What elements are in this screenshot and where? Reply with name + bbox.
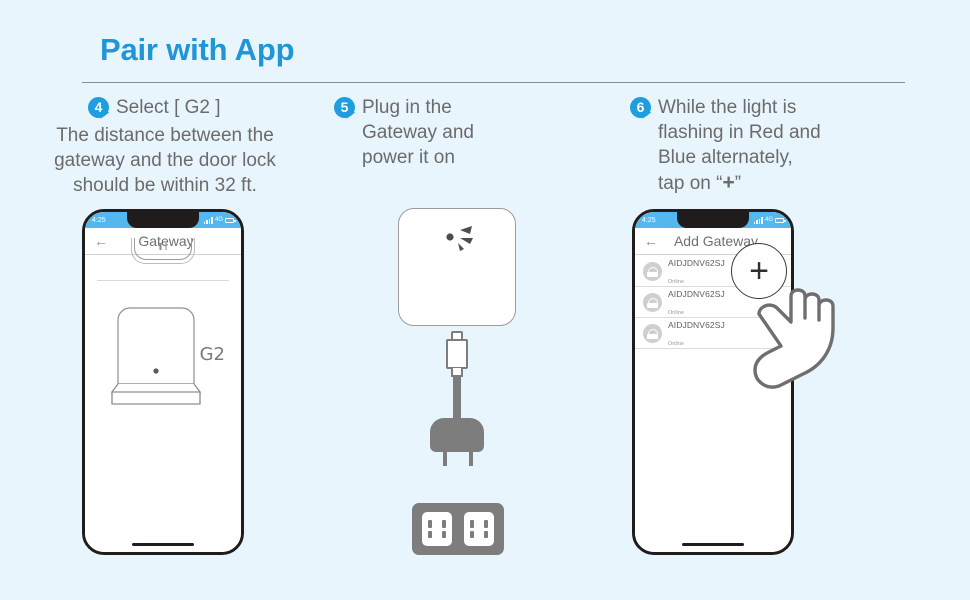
- list-item-name: AIDJDNV62SJ: [668, 320, 725, 330]
- phone-mockup-add-gateway: 4:25 4G ← Add Gateway: [632, 209, 794, 555]
- list-item-text: AIDJDNV62SJ Online: [668, 254, 725, 288]
- status-bar-1: 4:25 4G: [85, 212, 241, 228]
- home-indicator-3: [682, 543, 744, 546]
- g2-label: G2: [200, 344, 225, 365]
- badge-tail-icon: [643, 112, 652, 120]
- list-item-status: Online: [668, 310, 684, 316]
- g2-device-illustration[interactable]: G2: [85, 300, 241, 410]
- status-clock: 4:25: [92, 217, 106, 224]
- list-item-name: AIDJDNV62SJ: [668, 258, 725, 268]
- usb-c-connector-icon: [446, 339, 468, 369]
- badge-tail-icon: [101, 112, 110, 120]
- list-item-name: AIDJDNV62SJ: [668, 289, 725, 299]
- step-6-heading: 6 While the light is flashing in Red and…: [620, 95, 970, 196]
- step-6-badge: 6: [630, 95, 658, 121]
- phone-notch: [677, 209, 749, 228]
- back-arrow-icon[interactable]: ←: [644, 234, 658, 248]
- power-cable: [453, 376, 461, 422]
- gateway-icon: [643, 293, 662, 312]
- home-indicator-1: [132, 543, 194, 546]
- list-item-text: AIDJDNV62SJ Online: [668, 316, 725, 350]
- phone-screen-3: 4:25 4G ← Add Gateway: [635, 212, 791, 552]
- signal-bars-icon: [204, 217, 213, 224]
- outlet-socket-left: [422, 512, 452, 546]
- step-6-text-part2: ”: [735, 173, 741, 194]
- wall-outlet-icon: [412, 503, 504, 555]
- step-4-heading: 4 Select [ G2 ]: [0, 95, 330, 121]
- battery-icon: [775, 218, 784, 223]
- status-bar-3: 4:25 4G: [635, 212, 791, 228]
- step-4-badge: 4: [88, 95, 116, 121]
- signal-bars-icon: [754, 217, 763, 224]
- instruction-page: Pair with App 4 Select [ G2 ] The distan…: [0, 0, 970, 600]
- network-label: 4G: [765, 217, 773, 223]
- badge-tail-icon: [347, 112, 356, 120]
- step-4-lead: Select [ G2 ]: [116, 95, 221, 120]
- step-5-lead: Plug in the Gateway and power it on: [362, 95, 474, 170]
- list-item-text: AIDJDNV62SJ Online: [668, 285, 725, 319]
- page-title: Pair with App: [100, 32, 294, 68]
- phone-screen-1: 4:25 4G ← Gateway: [85, 212, 241, 552]
- plug-prong-right: [469, 450, 473, 466]
- gateway-icon: [643, 324, 662, 343]
- plug-prong-left: [443, 450, 447, 466]
- status-icons: 4G: [204, 217, 234, 224]
- phone-notch: [127, 209, 199, 228]
- back-arrow-icon[interactable]: ←: [94, 234, 108, 248]
- list-item-status: Online: [668, 341, 684, 347]
- step-5-badge: 5: [334, 95, 362, 121]
- step-6-lead: While the light is flashing in Red and B…: [658, 95, 821, 196]
- phone-mockup-gateway: 4:25 4G ← Gateway: [82, 209, 244, 555]
- network-label: 4G: [215, 217, 223, 223]
- list-item-status: Online: [668, 279, 684, 285]
- status-clock: 4:25: [642, 217, 656, 224]
- title-divider: [82, 82, 905, 83]
- list-item[interactable]: AIDJDNV62SJ Online: [635, 318, 791, 349]
- status-icons: 4G: [754, 217, 784, 224]
- step-4-column: 4 Select [ G2 ] The distance between the…: [0, 95, 330, 595]
- outlet-socket-right: [464, 512, 494, 546]
- step-4-body: The distance between the gateway and the…: [0, 123, 330, 198]
- gateway-signal-icon: [398, 208, 516, 326]
- gateway-icon: [643, 262, 662, 281]
- battery-icon: [225, 218, 234, 223]
- step-5-heading: 5 Plug in the Gateway and power it on: [330, 95, 620, 170]
- peek-device-slots-icon: [160, 243, 167, 250]
- list-divider: [97, 280, 229, 281]
- power-plug-icon: [430, 418, 484, 452]
- step-6-column: 6 While the light is flashing in Red and…: [620, 95, 970, 595]
- step-6-plus-glyph: +: [722, 171, 734, 194]
- add-gateway-button[interactable]: +: [731, 243, 787, 299]
